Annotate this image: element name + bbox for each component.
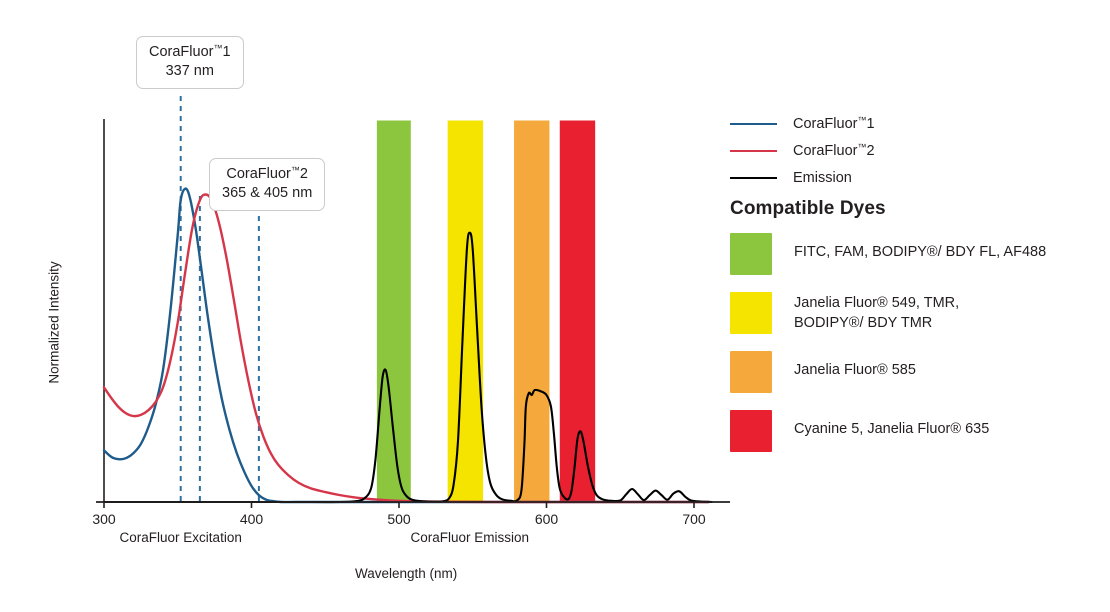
dye-item-label: Cyanine 5, Janelia Fluor® 635 — [794, 410, 989, 439]
dye-item-label: Janelia Fluor® 585 — [794, 351, 916, 380]
dye-item-2: Janelia Fluor® 585 — [730, 351, 1110, 393]
yellow-band — [448, 121, 483, 503]
callout-corafluor2: CoraFluor™2 365 & 405 nm — [209, 158, 325, 211]
dye-label-line1: Cyanine 5, Janelia Fluor® 635 — [794, 419, 989, 439]
legend-item-label: CoraFluor™2 — [793, 142, 875, 159]
x-tick-label-500: 500 — [369, 511, 429, 527]
legend-label-suffix: 1 — [866, 116, 874, 132]
legend-label-suffix: 2 — [866, 143, 874, 159]
legend-label-main: CoraFluor — [793, 143, 857, 159]
legend-line-swatch — [730, 177, 777, 179]
y-axis-title: Normalized Intensity — [47, 238, 62, 408]
compatible-dyes-list: FITC, FAM, BODIPY®/ BDY FL, AF488Janelia… — [730, 233, 1110, 469]
dye-color-swatch — [730, 292, 772, 334]
callout-cf2-line2: 365 & 405 nm — [222, 185, 312, 201]
chart-legend: CoraFluor™1CoraFluor™2Emission — [730, 110, 1100, 191]
dye-item-0: FITC, FAM, BODIPY®/ BDY FL, AF488 — [730, 233, 1110, 275]
x-tick-label-300: 300 — [74, 511, 134, 527]
dye-label-line1: Janelia Fluor® 585 — [794, 360, 916, 380]
dye-item-label: Janelia Fluor® 549, TMR,BODIPY®/ BDY TMR — [794, 292, 959, 333]
legend-line-swatch — [730, 123, 777, 125]
dye-item-3: Cyanine 5, Janelia Fluor® 635 — [730, 410, 1110, 452]
excitation-region-label: CoraFluor Excitation — [71, 530, 291, 545]
emission-region-label: CoraFluor Emission — [360, 530, 580, 545]
legend-line-swatch — [730, 150, 777, 152]
legend-item-label: Emission — [793, 170, 852, 186]
x-tick-label-400: 400 — [222, 511, 282, 527]
dye-item-1: Janelia Fluor® 549, TMR,BODIPY®/ BDY TMR — [730, 292, 1110, 334]
legend-item-0: CoraFluor™1 — [730, 110, 1100, 137]
dye-color-swatch — [730, 351, 772, 393]
x-tick-label-600: 600 — [517, 511, 577, 527]
dye-item-label: FITC, FAM, BODIPY®/ BDY FL, AF488 — [794, 233, 1046, 262]
orange-band — [514, 121, 549, 503]
dye-color-swatch — [730, 233, 772, 275]
dye-label-line1: Janelia Fluor® 549, TMR, — [794, 293, 959, 313]
x-axis-title: Wavelength (nm) — [355, 566, 457, 581]
legend-label-main: CoraFluor — [793, 116, 857, 132]
legend-item-label: CoraFluor™1 — [793, 115, 875, 132]
chart-side-panel: CoraFluor™1CoraFluor™2Emission Compatibl… — [730, 0, 1110, 612]
chart-plot-area: CoraFluor™1 337 nm CoraFluor™2 365 & 405… — [0, 0, 740, 612]
compatible-dyes-title: Compatible Dyes — [730, 198, 886, 220]
legend-item-1: CoraFluor™2 — [730, 137, 1100, 164]
dye-label-line2: BODIPY®/ BDY TMR — [794, 313, 959, 333]
callout-corafluor1: CoraFluor™1 337 nm — [136, 36, 244, 89]
x-tick-label-700: 700 — [664, 511, 724, 527]
callout-cf1-line1: CoraFluor™1 — [149, 44, 231, 60]
callout-cf2-line1: CoraFluor™2 — [226, 166, 308, 182]
legend-label-main: Emission — [793, 170, 852, 186]
callout-cf1-line2: 337 nm — [166, 63, 214, 79]
legend-item-2: Emission — [730, 164, 1100, 191]
dye-color-swatch — [730, 410, 772, 452]
dye-label-line1: FITC, FAM, BODIPY®/ BDY FL, AF488 — [794, 242, 1046, 262]
